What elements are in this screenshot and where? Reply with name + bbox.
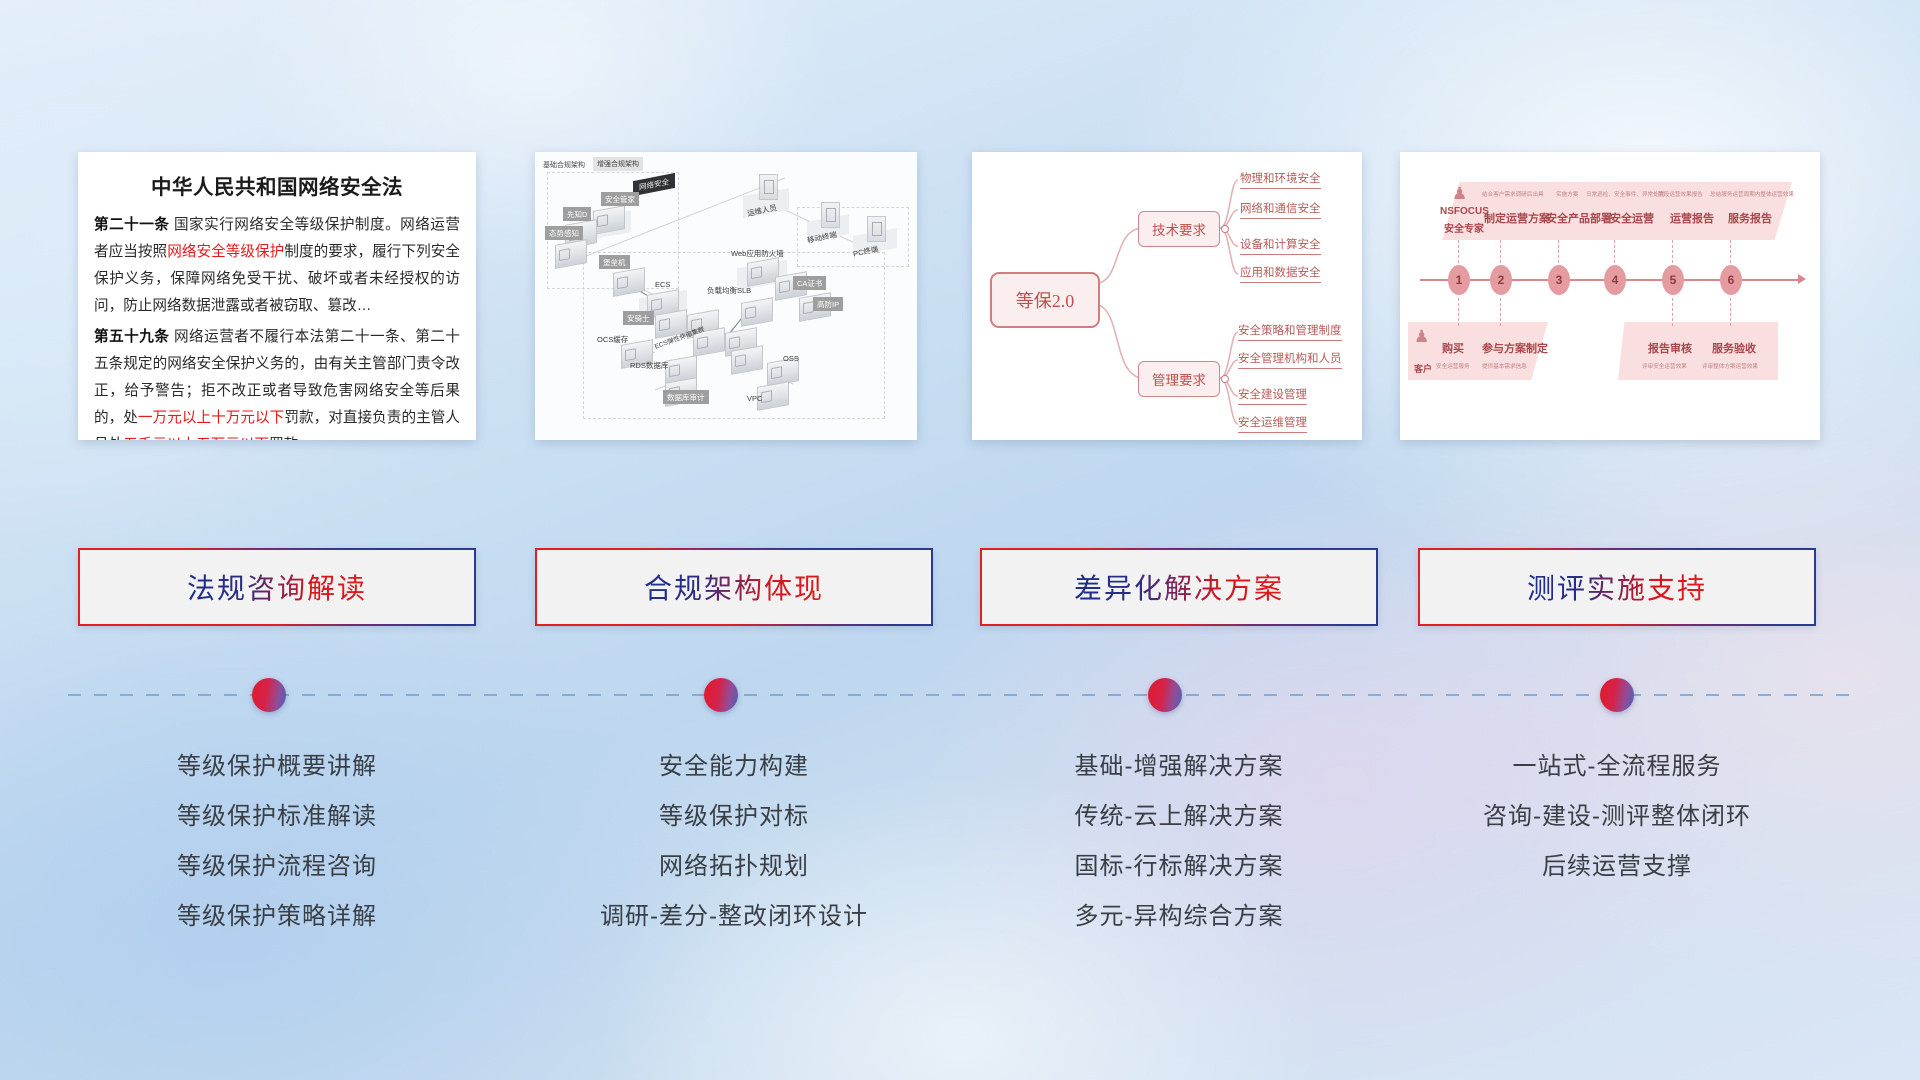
arch-label-ecs: ECS: [655, 280, 670, 289]
list-item: 基础-增强解决方案: [980, 742, 1378, 792]
arch-label-bastion: 堡垒机: [599, 255, 630, 269]
timeline-rail: [68, 694, 1852, 696]
arch-label-security-steward: 安全管家: [601, 192, 639, 206]
list-item: 传统-云上解决方案: [980, 792, 1378, 842]
mindmap-leaf-technical-4: 应用和数据安全: [1240, 264, 1321, 283]
timeline-marker-4[interactable]: [1600, 678, 1634, 712]
mindmap-leaf-management-4: 安全运维管理: [1238, 414, 1307, 433]
section-items-2: 安全能力构建 等级保护对标 网络拓扑规划 调研-差分-整改闭环设计: [535, 742, 933, 942]
service-timeline: ♟ NSFOCUS 安全专家 结合客户需求调研后出具 制定运营方案 实施方案 安…: [1400, 152, 1820, 440]
timeline-sub-5: 阶段运营效果报告: [1658, 190, 1703, 198]
law-article-59: 第五十九条 网络运营者不履行本法第二十一条、第二十五条规定的网络安全保护义务的，…: [94, 324, 460, 440]
timeline-step-3[interactable]: 3: [1548, 265, 1570, 295]
arch-node-mobile-icon: [821, 202, 840, 228]
list-item: 等级保护对标: [535, 792, 933, 842]
timeline-title-4: 安全运营: [1610, 210, 1654, 226]
timeline-conn-2: [1500, 240, 1501, 268]
customer-role: 客户: [1414, 362, 1432, 375]
mindmap-root: 等保2.0: [990, 272, 1100, 328]
timeline-step-6[interactable]: 6: [1720, 265, 1742, 295]
arch-label-ca: CA证书: [793, 276, 826, 290]
customer-title-1: 购买: [1442, 340, 1464, 356]
timeline-conn-b1: [1458, 298, 1459, 326]
expert-avatar-icon: ♟: [1452, 184, 1467, 204]
law-article-59-highlight-2: 五千元以上五万元以下: [123, 437, 269, 440]
timeline-conn-3: [1558, 240, 1559, 268]
timeline-conn-5: [1672, 240, 1673, 268]
timeline-sub-2: 结合客户需求调研后出具: [1482, 190, 1544, 198]
timeline-conn-1: [1458, 240, 1459, 268]
customer-sub-2: 提供基本需求信息: [1482, 362, 1527, 370]
section-heading-2-label: 合规架构体现: [644, 567, 824, 607]
list-item: 安全能力构建: [535, 742, 933, 792]
mindmap-knob-management-icon: [1221, 375, 1229, 383]
card-service-timeline: ♟ NSFOCUS 安全专家 结合客户需求调研后出具 制定运营方案 实施方案 安…: [1400, 152, 1820, 440]
timeline-conn-b6: [1730, 298, 1731, 326]
arch-label-ocs: OCS缓存: [597, 334, 628, 345]
arch-label-rds: RDS数据库: [630, 360, 668, 371]
customer-title-4: 服务验收: [1712, 340, 1756, 356]
mindmap-leaf-management-3: 安全建设管理: [1238, 386, 1307, 405]
timeline-conn-b5: [1672, 298, 1673, 326]
list-item: 等级保护流程咨询: [78, 842, 476, 892]
customer-title-2: 参与方案制定: [1482, 340, 1548, 356]
mindmap-branch-management: 管理要求: [1138, 361, 1220, 397]
expert-role: 安全专家: [1444, 220, 1484, 235]
list-item: 后续运营支撑: [1418, 842, 1816, 892]
section-heading-4-label: 测评实施支持: [1527, 567, 1707, 607]
law-article-59-label: 第五十九条: [94, 329, 169, 345]
section-items-1: 等级保护概要讲解 等级保护标准解读 等级保护流程咨询 等级保护策略详解: [78, 742, 476, 942]
arch-connector-lines: [535, 152, 917, 440]
timeline-conn-6: [1730, 240, 1731, 268]
list-item: 一站式-全流程服务: [1418, 742, 1816, 792]
card-architecture-diagram: 基础合规架构 增强合规架构 网络安全 安全管家 先知D 态势感知 堡垒机: [535, 152, 917, 440]
customer-sub-3: 评审安全运营效果: [1642, 362, 1687, 370]
expert-brand: NSFOCUS: [1440, 206, 1489, 217]
list-item: 网络拓扑规划: [535, 842, 933, 892]
timeline-sub-6: 总结服务运营周期内整体运营效果: [1710, 190, 1794, 198]
card-law-document: 中华人民共和国网络安全法 第二十一条 国家实行网络安全等级保护制度。网络运营者应…: [78, 152, 476, 440]
mindmap-leaf-technical-3: 设备和计算安全: [1240, 236, 1321, 255]
list-item: 国标-行标解决方案: [980, 842, 1378, 892]
mindmap-leaf-management-1: 安全策略和管理制度: [1238, 322, 1342, 341]
list-item: 等级保护概要讲解: [78, 742, 476, 792]
timeline-sub-3: 实施方案: [1556, 190, 1578, 198]
timeline-conn-b2: [1500, 298, 1501, 326]
list-item: 等级保护策略详解: [78, 892, 476, 942]
list-item: 多元-异构综合方案: [980, 892, 1378, 942]
law-document: 中华人民共和国网络安全法 第二十一条 国家实行网络安全等级保护制度。网络运营者应…: [78, 152, 476, 440]
timeline-step-1[interactable]: 1: [1448, 265, 1470, 295]
mindmap-leaf-technical-1: 物理和环境安全: [1240, 170, 1321, 189]
section-items-3: 基础-增强解决方案 传统-云上解决方案 国标-行标解决方案 多元-异构综合方案: [980, 742, 1378, 942]
customer-title-3: 报告审核: [1648, 340, 1692, 356]
law-article-21-highlight: 网络安全等级保护: [167, 244, 284, 260]
list-item: 咨询-建设-测评整体闭环: [1418, 792, 1816, 842]
mindmap-leaf-technical-2: 网络和通信安全: [1240, 200, 1321, 219]
timeline-title-3: 安全产品部署: [1546, 210, 1612, 226]
timeline-title-5: 运营报告: [1670, 210, 1714, 226]
arch-label-slb: 负载均衡SLB: [707, 285, 751, 296]
section-items-4: 一站式-全流程服务 咨询-建设-测评整体闭环 后续运营支撑: [1418, 742, 1816, 892]
arch-label-oss: OSS: [783, 354, 799, 363]
timeline-sub-4: 日常巡检、安全事件、异常处置: [1586, 190, 1664, 198]
customer-avatar-icon: ♟: [1414, 327, 1429, 347]
arch-label-anqishi: 安骑士: [623, 311, 654, 325]
arch-label-xianzhi: 先知D: [563, 207, 591, 221]
mindmap-knob-technical-icon: [1221, 225, 1229, 233]
section-heading-1[interactable]: 法规咨询解读: [78, 548, 476, 626]
timeline-arrow-icon: [1798, 274, 1806, 284]
timeline-marker-3[interactable]: [1148, 678, 1182, 712]
arch-label-situation: 态势感知: [545, 226, 583, 240]
timeline-conn-4: [1614, 240, 1615, 268]
law-article-59-highlight-1: 一万元以上十万元以下: [138, 410, 284, 426]
arch-node-operator-icon: [759, 174, 778, 200]
law-title: 中华人民共和国网络安全法: [94, 170, 460, 200]
timeline-step-2[interactable]: 2: [1490, 265, 1512, 295]
mindmap-leaf-management-2: 安全管理机构和人员: [1238, 350, 1342, 369]
customer-sub-4: 评审整体方案运营效果: [1702, 362, 1758, 370]
timeline-step-4[interactable]: 4: [1604, 265, 1626, 295]
mindmap-branch-technical: 技术要求: [1138, 211, 1220, 247]
timeline-step-5[interactable]: 5: [1662, 265, 1684, 295]
section-heading-3-label: 差异化解决方案: [1074, 567, 1284, 607]
mindmap: 等保2.0 技术要求 物理和环境安全 网络和通信安全 设备和计算安全 应用和数据…: [972, 152, 1362, 440]
law-article-59-text-c: 罚款。: [269, 437, 313, 440]
section-heading-1-label: 法规咨询解读: [187, 567, 367, 607]
architecture-diagram: 基础合规架构 增强合规架构 网络安全 安全管家 先知D 态势感知 堡垒机: [535, 152, 917, 440]
timeline-title-6: 服务报告: [1728, 210, 1772, 226]
list-item: 调研-差分-整改闭环设计: [535, 892, 933, 942]
arch-node-pc-icon: [867, 216, 886, 242]
timeline-marker-1[interactable]: [252, 678, 286, 712]
section-heading-4[interactable]: 测评实施支持: [1418, 548, 1816, 626]
section-heading-3[interactable]: 差异化解决方案: [980, 548, 1378, 626]
card-mindmap: 等保2.0 技术要求 物理和环境安全 网络和通信安全 设备和计算安全 应用和数据…: [972, 152, 1362, 440]
timeline-marker-2[interactable]: [704, 678, 738, 712]
timeline-title-2: 制定运营方案: [1484, 210, 1550, 226]
arch-label-waf: Web应用防火墙: [731, 248, 784, 259]
law-article-21: 第二十一条 国家实行网络安全等级保护制度。网络运营者应当按照网络安全等级保护制度…: [94, 212, 460, 320]
law-article-21-label: 第二十一条: [94, 217, 169, 233]
section-heading-2[interactable]: 合规架构体现: [535, 548, 933, 626]
arch-label-db-audit: 数据库审计: [663, 390, 709, 404]
list-item: 等级保护标准解读: [78, 792, 476, 842]
customer-sub-1: 安全运营服务: [1436, 362, 1470, 370]
arch-label-vpc: VPC: [747, 394, 762, 403]
arch-label-antiddos: 高防IP: [813, 297, 843, 311]
